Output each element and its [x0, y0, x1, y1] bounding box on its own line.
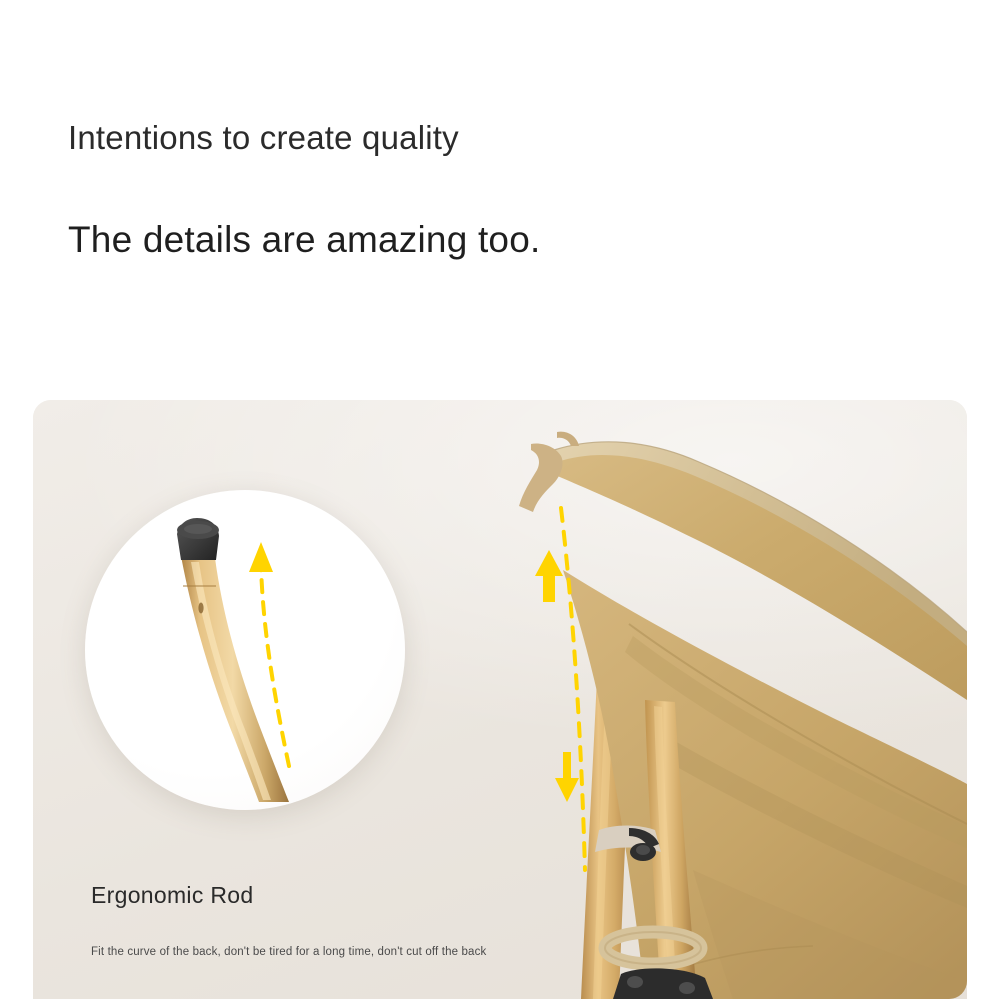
product-showcase-card: Ergonomic Rod Fit the curve of the back,… [33, 400, 967, 999]
feature-description: Fit the curve of the back, don't be tire… [91, 946, 486, 958]
page-title: Intentions to create quality [68, 118, 928, 158]
zoom-inset-icon [85, 490, 405, 810]
page-subtitle: The details are amazing too. [68, 218, 928, 262]
arrow-up-icon [249, 542, 273, 572]
dashed-curve-icon [561, 508, 585, 870]
product-detail-page: Intentions to create quality The details… [0, 0, 1000, 999]
arrow-up-icon [535, 550, 563, 602]
feature-title: Ergonomic Rod [91, 882, 253, 909]
rod-closeup-illustration [85, 490, 405, 810]
chair-hanging-strap [519, 444, 563, 513]
arrow-down-icon [555, 752, 579, 802]
chair-strap-loop [557, 432, 579, 446]
headings-block: Intentions to create quality The details… [68, 118, 928, 262]
dashed-curve-icon [261, 566, 289, 766]
